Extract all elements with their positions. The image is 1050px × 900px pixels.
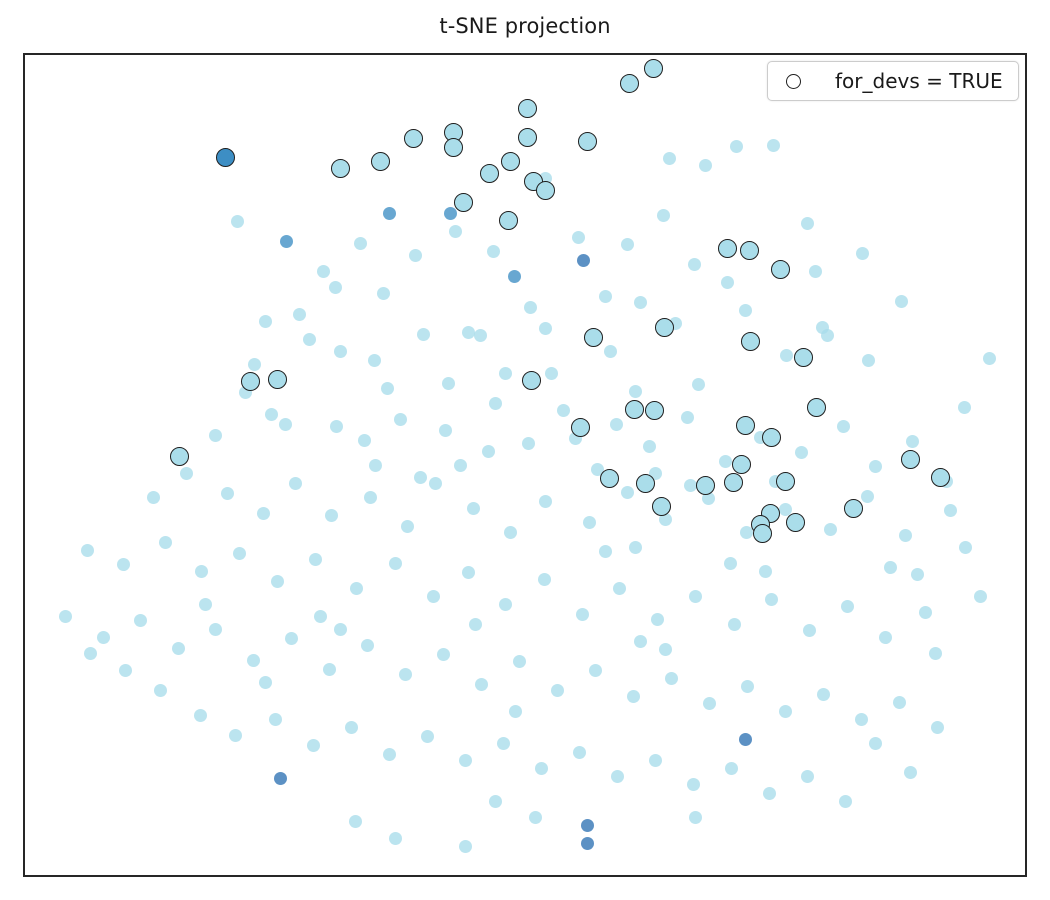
scatter-point	[581, 837, 594, 850]
scatter-point	[81, 544, 94, 557]
scatter-point	[233, 547, 246, 560]
scatter-point	[573, 746, 586, 759]
scatter-point-highlight	[718, 239, 737, 258]
scatter-point	[728, 618, 741, 631]
scatter-point	[399, 668, 412, 681]
scatter-point	[659, 643, 672, 656]
scatter-point-highlight	[480, 164, 499, 183]
scatter-point	[681, 411, 694, 424]
plot-area	[23, 53, 1027, 877]
scatter-point	[861, 490, 874, 503]
scatter-point	[303, 333, 316, 346]
scatter-point	[931, 721, 944, 734]
scatter-point	[293, 308, 306, 321]
scatter-point	[442, 377, 455, 390]
scatter-point	[974, 590, 987, 603]
scatter-point	[884, 561, 897, 574]
scatter-point	[689, 590, 702, 603]
scatter-point	[855, 713, 868, 726]
scatter-point-highlight	[736, 416, 755, 435]
scatter-point	[599, 545, 612, 558]
scatter-point	[377, 287, 390, 300]
scatter-point	[627, 690, 640, 703]
scatter-point-highlight	[444, 138, 463, 157]
scatter-point	[439, 424, 452, 437]
scatter-point	[317, 265, 330, 278]
scatter-point	[389, 557, 402, 570]
scatter-point	[257, 507, 270, 520]
scatter-point	[383, 207, 396, 220]
scatter-point-highlight	[522, 371, 541, 390]
scatter-points-layer	[25, 55, 1025, 875]
scatter-point	[307, 739, 320, 752]
scatter-point-highlight	[499, 211, 518, 230]
scatter-point	[497, 737, 510, 750]
scatter-point	[610, 418, 623, 431]
scatter-point	[474, 329, 487, 342]
scatter-point	[817, 688, 830, 701]
scatter-point	[741, 680, 754, 693]
scatter-point	[314, 610, 327, 623]
scatter-point-highlight	[331, 159, 350, 178]
scatter-point	[524, 301, 537, 314]
scatter-point-highlight	[404, 129, 423, 148]
scatter-point	[134, 614, 147, 627]
scatter-point	[551, 684, 564, 697]
scatter-point	[869, 460, 882, 473]
scatter-point	[904, 766, 917, 779]
scatter-point	[557, 404, 570, 417]
scatter-point	[703, 697, 716, 710]
scatter-point	[692, 378, 705, 391]
page-title: t-SNE projection	[0, 14, 1050, 38]
scatter-point	[767, 139, 780, 152]
scatter-point	[459, 840, 472, 853]
scatter-point	[759, 565, 772, 578]
scatter-point	[345, 721, 358, 734]
scatter-point	[535, 762, 548, 775]
scatter-point	[383, 748, 396, 761]
scatter-point	[803, 624, 816, 637]
scatter-point	[730, 140, 743, 153]
scatter-point	[763, 787, 776, 800]
scatter-point	[462, 326, 475, 339]
scatter-point-highlight	[501, 152, 520, 171]
scatter-point-highlight	[753, 524, 772, 543]
scatter-point	[634, 635, 647, 648]
scatter-point	[289, 477, 302, 490]
scatter-point	[576, 608, 589, 621]
scatter-point	[147, 491, 160, 504]
scatter-point	[349, 815, 362, 828]
scatter-point	[117, 558, 130, 571]
scatter-point	[839, 795, 852, 808]
scatter-point	[489, 397, 502, 410]
scatter-point	[856, 247, 869, 260]
scatter-point	[688, 258, 701, 271]
scatter-point	[309, 553, 322, 566]
scatter-point	[739, 304, 752, 317]
scatter-point	[59, 610, 72, 623]
scatter-point	[489, 795, 502, 808]
scatter-point	[983, 352, 996, 365]
scatter-point	[869, 737, 882, 750]
scatter-point	[84, 647, 97, 660]
scatter-point	[657, 209, 670, 222]
scatter-point-highlight	[454, 193, 473, 212]
scatter-point-highlight	[170, 447, 189, 466]
scatter-point-highlight	[901, 450, 920, 469]
scatter-point	[724, 557, 737, 570]
scatter-point	[539, 322, 552, 335]
scatter-point	[330, 420, 343, 433]
scatter-point-highlight	[786, 513, 805, 532]
scatter-point	[271, 575, 284, 588]
scatter-point	[581, 819, 594, 832]
legend-circle-icon	[786, 74, 801, 89]
scatter-point	[475, 678, 488, 691]
scatter-point	[721, 276, 734, 289]
scatter-point	[684, 479, 697, 492]
scatter-point-highlight	[536, 181, 555, 200]
scatter-point	[895, 295, 908, 308]
scatter-point	[285, 632, 298, 645]
scatter-point	[809, 265, 822, 278]
scatter-point	[529, 811, 542, 824]
scatter-point	[583, 516, 596, 529]
scatter-point	[459, 754, 472, 767]
scatter-point-highlight	[844, 499, 863, 518]
scatter-point	[247, 654, 260, 667]
scatter-point	[801, 217, 814, 230]
scatter-point-highlight	[571, 418, 590, 437]
scatter-point-highlight	[518, 128, 537, 147]
scatter-point	[795, 446, 808, 459]
scatter-point	[364, 491, 377, 504]
scatter-point	[739, 733, 752, 746]
scatter-point	[837, 420, 850, 433]
scatter-point	[634, 296, 647, 309]
scatter-point	[509, 705, 522, 718]
scatter-point	[621, 238, 634, 251]
scatter-point	[687, 778, 700, 791]
scatter-point	[959, 541, 972, 554]
scatter-point	[958, 401, 971, 414]
scatter-point	[172, 642, 185, 655]
scatter-point	[577, 254, 590, 267]
scatter-point-highlight	[644, 59, 663, 78]
scatter-point	[159, 536, 172, 549]
scatter-point-highlight	[776, 472, 795, 491]
scatter-point	[154, 684, 167, 697]
scatter-point	[689, 811, 702, 824]
scatter-point	[280, 235, 293, 248]
scatter-point	[180, 467, 193, 480]
scatter-point	[499, 367, 512, 380]
scatter-point	[665, 672, 678, 685]
scatter-point	[199, 598, 212, 611]
scatter-point-highlight	[518, 99, 537, 118]
scatter-point	[879, 631, 892, 644]
scatter-point	[334, 345, 347, 358]
scatter-point	[368, 354, 381, 367]
scatter-point	[643, 440, 656, 453]
scatter-point	[369, 459, 382, 472]
scatter-point	[538, 573, 551, 586]
scatter-point	[919, 606, 932, 619]
scatter-point	[719, 455, 732, 468]
scatter-point	[589, 664, 602, 677]
scatter-point	[427, 590, 440, 603]
scatter-point-highlight	[625, 400, 644, 419]
scatter-point	[487, 245, 500, 258]
scatter-point	[699, 159, 712, 172]
scatter-point	[621, 486, 634, 499]
scatter-point-highlight	[620, 74, 639, 93]
scatter-point	[513, 655, 526, 668]
scatter-point	[229, 729, 242, 742]
scatter-point	[779, 705, 792, 718]
scatter-point	[462, 566, 475, 579]
scatter-point	[119, 664, 132, 677]
scatter-point-highlight	[724, 473, 743, 492]
scatter-point-highlight	[807, 398, 826, 417]
scatter-point-highlight	[740, 241, 759, 260]
scatter-point	[780, 349, 793, 362]
scatter-point	[389, 832, 402, 845]
scatter-point	[437, 648, 450, 661]
scatter-point	[482, 445, 495, 458]
scatter-point	[911, 568, 924, 581]
chart-legend[interactable]: for_devs = TRUE	[767, 61, 1019, 101]
scatter-point	[248, 358, 261, 371]
scatter-point	[323, 663, 336, 676]
scatter-point	[663, 152, 676, 165]
scatter-point-highlight	[268, 370, 287, 389]
scatter-point	[572, 231, 585, 244]
scatter-point	[259, 315, 272, 328]
scatter-point	[449, 225, 462, 238]
scatter-point-highlight	[696, 476, 715, 495]
scatter-point-highlight	[762, 428, 781, 447]
scatter-point	[467, 502, 480, 515]
scatter-point-highlight	[578, 132, 597, 151]
scatter-point	[350, 582, 363, 595]
scatter-point	[508, 270, 521, 283]
scatter-point-highlight	[645, 401, 664, 420]
scatter-point	[409, 249, 422, 262]
tsne-scatter-figure: t-SNE projection for_devs = TRUE	[0, 0, 1050, 900]
scatter-point	[906, 435, 919, 448]
scatter-point	[944, 504, 957, 517]
scatter-point-highlight	[794, 348, 813, 367]
scatter-point	[522, 437, 535, 450]
scatter-point	[821, 329, 834, 342]
scatter-point	[231, 215, 244, 228]
scatter-point	[929, 647, 942, 660]
scatter-point	[265, 408, 278, 421]
scatter-point	[259, 676, 272, 689]
scatter-point-highlight	[371, 152, 390, 171]
scatter-point	[841, 600, 854, 613]
scatter-point	[358, 434, 371, 447]
scatter-point	[195, 565, 208, 578]
scatter-point	[613, 582, 626, 595]
scatter-point	[469, 618, 482, 631]
scatter-point-highlight	[584, 328, 603, 347]
scatter-point	[629, 541, 642, 554]
scatter-point	[499, 598, 512, 611]
scatter-point	[334, 623, 347, 636]
scatter-point	[629, 385, 642, 398]
scatter-point	[394, 413, 407, 426]
scatter-point	[417, 328, 430, 341]
scatter-point-highlight	[652, 497, 671, 516]
scatter-point	[354, 237, 367, 250]
scatter-point-highlight	[216, 148, 235, 167]
scatter-point	[454, 459, 467, 472]
scatter-point-highlight	[771, 260, 790, 279]
scatter-point	[97, 631, 110, 644]
scatter-point	[269, 713, 282, 726]
scatter-point	[194, 709, 207, 722]
scatter-point-highlight	[241, 372, 260, 391]
scatter-point	[325, 509, 338, 522]
scatter-point	[599, 290, 612, 303]
scatter-point	[401, 520, 414, 533]
scatter-point-highlight	[636, 474, 655, 493]
scatter-point	[444, 207, 457, 220]
scatter-point	[429, 477, 442, 490]
scatter-point	[893, 696, 906, 709]
scatter-point	[274, 772, 287, 785]
scatter-point	[414, 471, 427, 484]
scatter-point	[725, 762, 738, 775]
scatter-point	[899, 529, 912, 542]
scatter-point	[221, 487, 234, 500]
scatter-point	[421, 730, 434, 743]
scatter-point	[545, 367, 558, 380]
legend-entry-label: for_devs = TRUE	[835, 69, 1003, 93]
scatter-point	[539, 495, 552, 508]
scatter-point	[279, 418, 292, 431]
scatter-point-highlight	[741, 332, 760, 351]
scatter-point	[209, 429, 222, 442]
scatter-point	[611, 770, 624, 783]
scatter-point	[651, 613, 664, 626]
scatter-point	[209, 623, 222, 636]
scatter-point	[329, 281, 342, 294]
scatter-point-highlight	[600, 469, 619, 488]
scatter-point	[381, 382, 394, 395]
scatter-point	[765, 593, 778, 606]
scatter-point	[801, 770, 814, 783]
scatter-point	[604, 345, 617, 358]
scatter-point	[862, 354, 875, 367]
scatter-point	[649, 754, 662, 767]
scatter-point-highlight	[732, 455, 751, 474]
scatter-point	[361, 639, 374, 652]
scatter-point-highlight	[655, 318, 674, 337]
scatter-point	[504, 526, 517, 539]
scatter-point-highlight	[931, 468, 950, 487]
scatter-point	[824, 523, 837, 536]
